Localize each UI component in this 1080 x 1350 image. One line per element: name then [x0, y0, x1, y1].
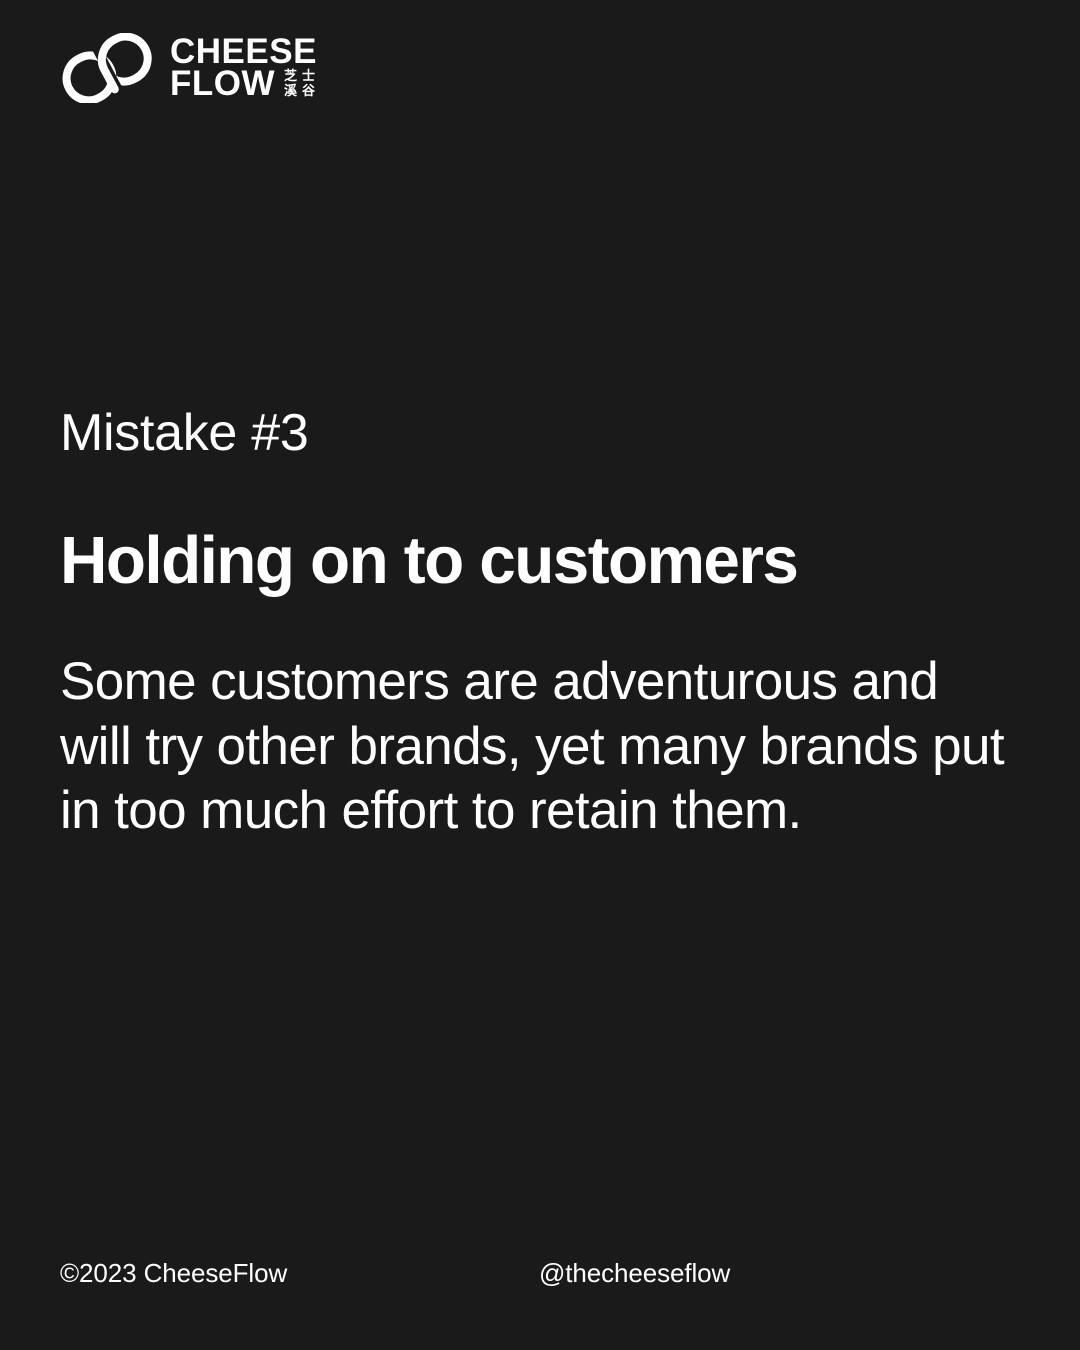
brand-name-line2: FLOW [170, 68, 275, 100]
brand-wordmark: CHEESE FLOW 芝 士 溪 谷 [170, 36, 317, 100]
page-title: Holding on to customers [60, 524, 1001, 598]
brand-lockup: CHEESE FLOW 芝 士 溪 谷 [60, 33, 317, 103]
infinity-loop-icon [60, 33, 156, 103]
footer: ©2023 CheeseFlow @thecheeseflow [60, 1258, 1020, 1300]
copyright-text: ©2023 CheeseFlow [60, 1258, 287, 1289]
social-handle: @thecheeseflow [539, 1258, 730, 1289]
brand-cjk-char-4: 谷 [302, 85, 315, 99]
body-paragraph: Some customers are adventurous and will … [60, 650, 1020, 844]
eyebrow-label: Mistake #3 [60, 404, 1020, 462]
brand-cjk-char-3: 溪 [284, 85, 297, 99]
brand-cjk-block: 芝 士 溪 谷 [284, 70, 315, 100]
content-block: Mistake #3 Holding on to customers Some … [60, 404, 1020, 844]
social-card: CHEESE FLOW 芝 士 溪 谷 Mistake #3 Holding o… [0, 0, 1080, 1350]
wordmark-row-2: FLOW 芝 士 溪 谷 [170, 68, 317, 100]
brand-cjk-char-2: 士 [302, 70, 315, 84]
brand-cjk-char-1: 芝 [284, 70, 297, 84]
